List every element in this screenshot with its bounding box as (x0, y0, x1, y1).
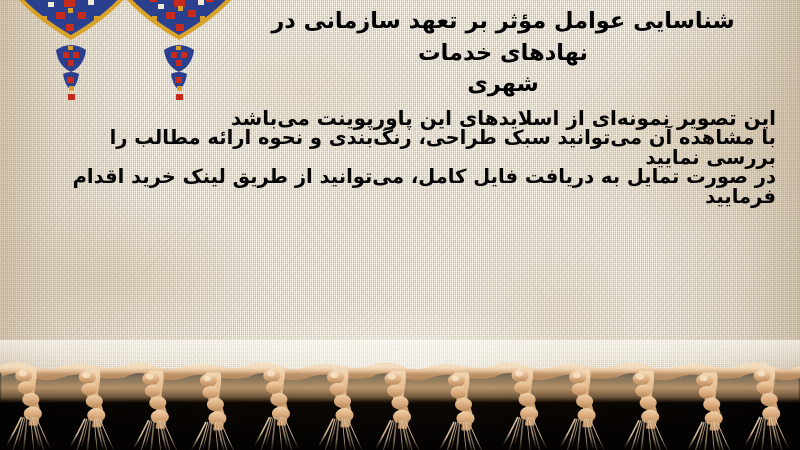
slide-body-line-3: در صورت تمایل به دریافت فایل کامل، می‌تو… (60, 167, 776, 206)
slide-title: شناسایی عوامل مؤثر بر تعهد سازمانی در نه… (224, 6, 782, 101)
slide-body-line-1: این تصویر نمونه‌ای از اسلایدهای این پاور… (60, 108, 776, 128)
slide-title-line-2: شهری (224, 69, 782, 101)
slide-canvas: شناسایی عوامل مؤثر بر تعهد سازمانی در نه… (0, 0, 800, 450)
slide-title-line-1: شناسایی عوامل مؤثر بر تعهد سازمانی در نه… (224, 6, 782, 69)
carpet-fringe-tassels (0, 340, 800, 450)
slide-body: این تصویر نمونه‌ای از اسلایدهای این پاور… (60, 108, 776, 206)
slide-body-line-2: با مشاهده آن می‌توانید سبک طراحی، رنگ‌بن… (60, 128, 776, 167)
fringe-tassel-shapes (0, 340, 800, 450)
